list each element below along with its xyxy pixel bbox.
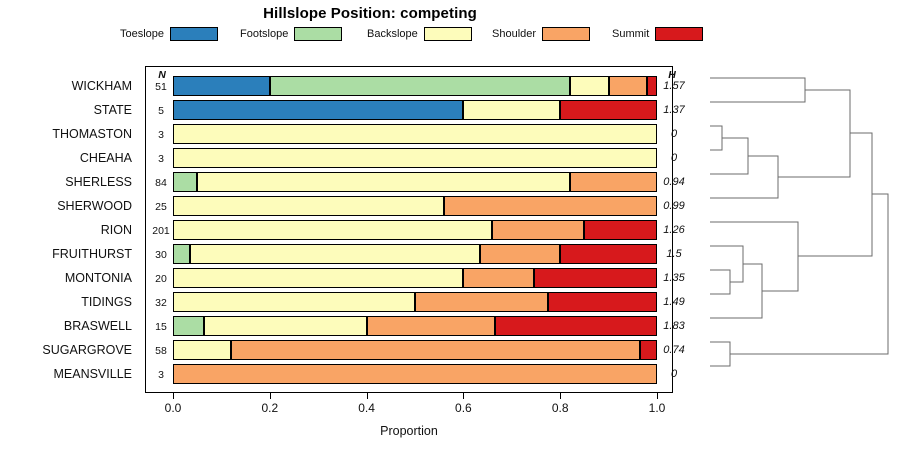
stacked-bar-sherless[interactable] xyxy=(173,172,657,192)
stacked-bar-rion[interactable] xyxy=(173,220,657,240)
legend-item-shoulder: Shoulder xyxy=(492,25,590,43)
n-value-sugargrove: 58 xyxy=(146,345,176,357)
bar-segment-backslope[interactable] xyxy=(173,340,231,360)
category-label-sherwood: SHERWOOD xyxy=(57,199,132,213)
h-value-fruithurst: 1.5 xyxy=(657,248,691,260)
bar-segment-footslope[interactable] xyxy=(173,244,190,264)
stacked-bar-sugargrove[interactable] xyxy=(173,340,657,360)
category-label-fruithurst: FRUITHURST xyxy=(52,247,132,261)
x-tick xyxy=(560,393,561,399)
category-axis-labels: WICKHAMSTATETHOMASTONCHEAHASHERLESSSHERW… xyxy=(0,66,140,393)
legend-label: Backslope xyxy=(367,28,418,40)
bar-segment-summit[interactable] xyxy=(495,316,657,336)
stacked-bar-wickham[interactable] xyxy=(173,76,657,96)
h-value-tidings: 1.49 xyxy=(657,296,691,308)
category-label-tidings: TIDINGS xyxy=(81,295,132,309)
bar-segment-shoulder[interactable] xyxy=(480,244,560,264)
bar-segment-toeslope[interactable] xyxy=(173,100,463,120)
legend-swatch xyxy=(655,27,703,41)
bar-segment-footslope[interactable] xyxy=(173,172,197,192)
chart-root: Hillslope Position: competing ToeslopeFo… xyxy=(0,0,900,460)
stacked-bar-meansville[interactable] xyxy=(173,364,657,384)
h-value-rion: 1.26 xyxy=(657,224,691,236)
x-axis-label: Proportion xyxy=(145,424,673,438)
bar-segment-footslope[interactable] xyxy=(270,76,570,96)
bar-segment-backslope[interactable] xyxy=(173,292,415,312)
dendrogram xyxy=(700,60,900,395)
bar-segment-shoulder[interactable] xyxy=(463,268,533,288)
bar-segment-backslope[interactable] xyxy=(570,76,609,96)
n-value-fruithurst: 30 xyxy=(146,249,176,261)
bar-segment-backslope[interactable] xyxy=(173,124,657,144)
stacked-bar-sherwood[interactable] xyxy=(173,196,657,216)
bar-segment-shoulder[interactable] xyxy=(444,196,657,216)
bar-segment-summit[interactable] xyxy=(584,220,657,240)
h-value-sugargrove: 0.74 xyxy=(657,344,691,356)
bar-segment-backslope[interactable] xyxy=(173,148,657,168)
bar-segment-summit[interactable] xyxy=(647,76,657,96)
bar-segment-backslope[interactable] xyxy=(463,100,560,120)
bar-segment-shoulder[interactable] xyxy=(492,220,584,240)
x-tick-label: 0.8 xyxy=(540,401,580,415)
x-tick xyxy=(463,393,464,399)
n-value-cheaha: 3 xyxy=(146,153,176,165)
stacked-bar-braswell[interactable] xyxy=(173,316,657,336)
h-value-state: 1.37 xyxy=(657,104,691,116)
n-value-state: 5 xyxy=(146,105,176,117)
bar-segment-summit[interactable] xyxy=(560,100,657,120)
category-label-wickham: WICKHAM xyxy=(72,79,132,93)
h-value-thomaston: 0 xyxy=(657,128,691,140)
legend-label: Shoulder xyxy=(492,28,536,40)
legend-swatch xyxy=(542,27,590,41)
category-label-rion: RION xyxy=(101,223,132,237)
x-tick-label: 0.6 xyxy=(443,401,483,415)
n-value-wickham: 51 xyxy=(146,81,176,93)
category-label-cheaha: CHEAHA xyxy=(80,151,132,165)
legend-label: Toeslope xyxy=(120,28,164,40)
legend-label: Footslope xyxy=(240,28,288,40)
legend-item-toeslope: Toeslope xyxy=(120,25,218,43)
legend-item-footslope: Footslope xyxy=(240,25,342,43)
stacked-bar-fruithurst[interactable] xyxy=(173,244,657,264)
n-value-tidings: 32 xyxy=(146,297,176,309)
category-label-thomaston: THOMASTON xyxy=(52,127,132,141)
stacked-bar-thomaston[interactable] xyxy=(173,124,657,144)
bar-segment-backslope[interactable] xyxy=(204,316,366,336)
x-tick-label: 0.4 xyxy=(347,401,387,415)
bar-segment-toeslope[interactable] xyxy=(173,76,270,96)
x-tick xyxy=(270,393,271,399)
legend-swatch xyxy=(170,27,218,41)
n-value-sherwood: 25 xyxy=(146,201,176,213)
bar-segment-shoulder[interactable] xyxy=(231,340,640,360)
n-value-sherless: 84 xyxy=(146,177,176,189)
h-value-wickham: 1.57 xyxy=(657,80,691,92)
bar-segment-backslope[interactable] xyxy=(173,268,463,288)
legend: ToeslopeFootslopeBackslopeShoulderSummit xyxy=(120,25,730,43)
n-value-montonia: 20 xyxy=(146,273,176,285)
category-label-sherless: SHERLESS xyxy=(65,175,132,189)
bar-segment-shoulder[interactable] xyxy=(367,316,495,336)
category-label-montonia: MONTONIA xyxy=(65,271,132,285)
bar-segment-backslope[interactable] xyxy=(197,172,570,192)
page-title: Hillslope Position: competing xyxy=(0,5,740,22)
legend-item-summit: Summit xyxy=(612,25,703,43)
bar-segment-backslope[interactable] xyxy=(173,196,444,216)
category-label-meansville: MEANSVILLE xyxy=(53,367,132,381)
n-value-meansville: 3 xyxy=(146,369,176,381)
bar-segment-summit[interactable] xyxy=(640,340,657,360)
x-tick xyxy=(173,393,174,399)
legend-item-backslope: Backslope xyxy=(367,25,472,43)
category-label-sugargrove: SUGARGROVE xyxy=(42,343,132,357)
dendrogram-svg xyxy=(700,60,900,395)
x-tick-label: 0.0 xyxy=(153,401,193,415)
x-tick xyxy=(657,393,658,399)
category-label-state: STATE xyxy=(94,103,132,117)
stacked-bar-cheaha[interactable] xyxy=(173,148,657,168)
bar-segment-backslope[interactable] xyxy=(190,244,480,264)
bar-segment-backslope[interactable] xyxy=(173,220,492,240)
h-value-sherwood: 0.99 xyxy=(657,200,691,212)
n-value-rion: 201 xyxy=(146,225,176,237)
x-tick xyxy=(367,393,368,399)
stacked-bar-tidings[interactable] xyxy=(173,292,657,312)
h-value-braswell: 1.83 xyxy=(657,320,691,332)
stacked-bar-state[interactable] xyxy=(173,100,657,120)
h-value-sherless: 0.94 xyxy=(657,176,691,188)
n-value-braswell: 15 xyxy=(146,321,176,333)
x-tick-label: 1.0 xyxy=(637,401,677,415)
h-value-meansville: 0 xyxy=(657,368,691,380)
category-label-braswell: BRASWELL xyxy=(64,319,132,333)
n-column-header: N xyxy=(148,69,176,81)
legend-label: Summit xyxy=(612,28,649,40)
bar-segment-footslope[interactable] xyxy=(173,316,204,336)
bar-segment-summit[interactable] xyxy=(534,268,657,288)
legend-swatch xyxy=(424,27,472,41)
bar-segment-shoulder[interactable] xyxy=(173,364,657,384)
stacked-bar-montonia[interactable] xyxy=(173,268,657,288)
x-tick-label: 0.2 xyxy=(250,401,290,415)
legend-swatch xyxy=(294,27,342,41)
n-value-thomaston: 3 xyxy=(146,129,176,141)
h-value-montonia: 1.35 xyxy=(657,272,691,284)
bar-segment-shoulder[interactable] xyxy=(570,172,657,192)
bar-segment-summit[interactable] xyxy=(548,292,657,312)
bar-segment-summit[interactable] xyxy=(560,244,657,264)
bar-segment-shoulder[interactable] xyxy=(415,292,548,312)
h-value-cheaha: 0 xyxy=(657,152,691,164)
bar-segment-shoulder[interactable] xyxy=(609,76,648,96)
